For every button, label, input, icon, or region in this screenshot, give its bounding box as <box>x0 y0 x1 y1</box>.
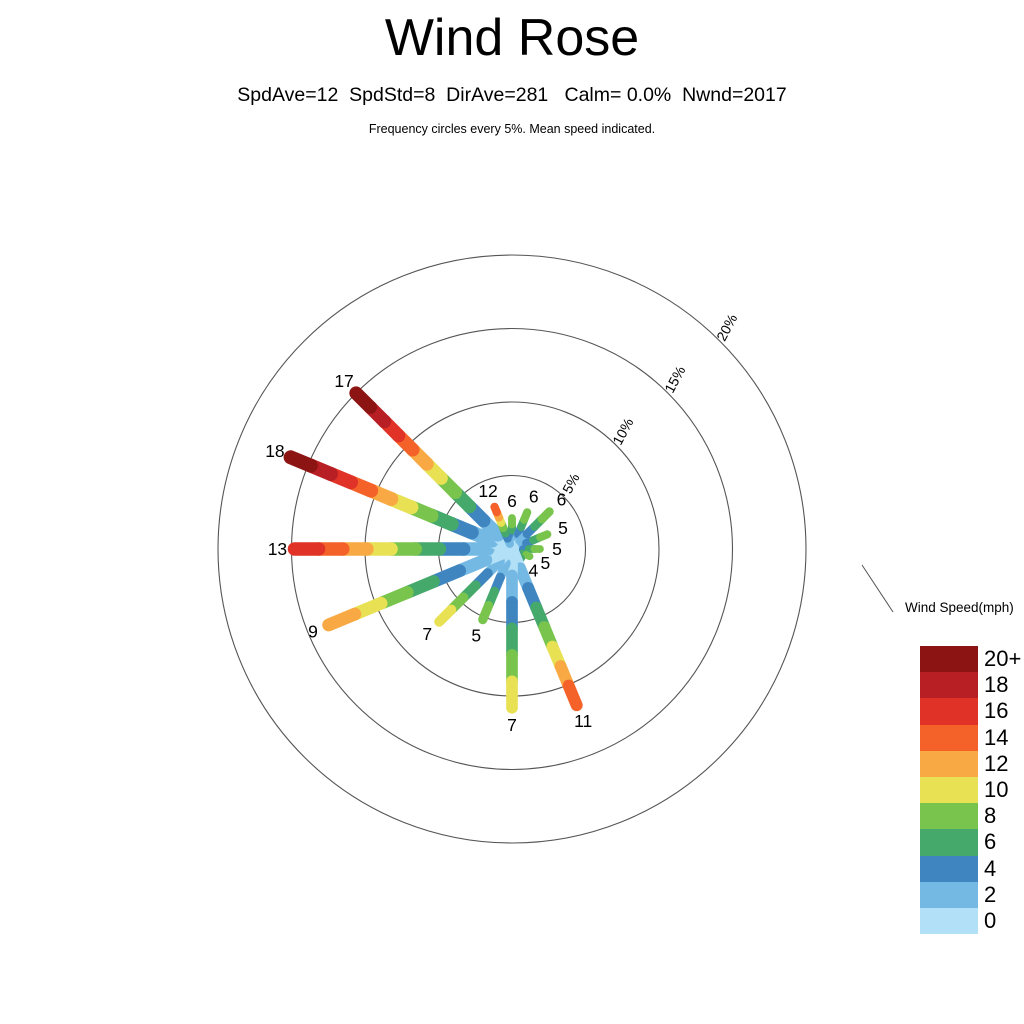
legend-entry: 16 <box>920 698 978 724</box>
ring-label: 15% <box>661 363 688 395</box>
legend-entry: 0 <box>920 908 978 934</box>
legend-swatch <box>920 908 978 934</box>
legend-label: 0 <box>984 908 996 934</box>
legend-swatch <box>920 725 978 751</box>
legend-entry: 20+ <box>920 646 978 672</box>
legend-label: 14 <box>984 725 1008 751</box>
legend-leader-line <box>862 565 893 612</box>
petal-segment <box>329 614 355 625</box>
legend-swatch <box>920 882 978 908</box>
petal-speed-label: 5 <box>558 518 568 538</box>
petal-speed-label: 6 <box>557 490 567 510</box>
ring-label: 20% <box>713 311 740 343</box>
legend-label: 16 <box>984 698 1008 724</box>
petal-speed-label: 18 <box>265 441 284 461</box>
legend-label: 6 <box>984 829 996 855</box>
legend-label: 8 <box>984 803 996 829</box>
petal-segment <box>291 457 311 465</box>
legend-label: 18 <box>984 672 1008 698</box>
legend-swatch <box>920 751 978 777</box>
petal-segment <box>526 555 530 556</box>
legend-label: 20+ <box>984 646 1021 672</box>
ring-labels: 5%10%15%20% <box>559 311 740 496</box>
petal-speed-label: 12 <box>478 481 497 501</box>
petal-speed-label: 6 <box>529 487 539 507</box>
petal-speed-label: 13 <box>268 539 287 559</box>
petal-segment <box>569 686 577 706</box>
petal-segment <box>524 512 527 519</box>
petal-speed-label: 11 <box>574 711 592 731</box>
legend-swatch <box>920 698 978 724</box>
legend-label: 12 <box>984 751 1008 777</box>
legend-entry: 12 <box>920 751 978 777</box>
wind-petal <box>291 457 512 549</box>
legend-entry: 4 <box>920 856 978 882</box>
legend-label: 10 <box>984 777 1008 803</box>
legend-swatch <box>920 829 978 855</box>
petal-speed-label: 9 <box>308 621 318 641</box>
legend-entry: 8 <box>920 803 978 829</box>
petal-speed-label: 7 <box>422 624 432 644</box>
petal-segment <box>356 393 370 407</box>
petal-segment <box>540 534 547 537</box>
legend-entry: 14 <box>920 725 978 751</box>
petal-speed-label: 6 <box>507 491 517 511</box>
petal-segment <box>542 512 549 519</box>
petal-segment <box>495 507 497 512</box>
legend-entry: 10 <box>920 777 978 803</box>
wind-petal <box>356 393 512 549</box>
petal-speed-label: 5 <box>552 539 562 559</box>
petal-speed-label: 17 <box>334 371 353 391</box>
wind-petals <box>291 393 577 708</box>
petal-speed-label: 5 <box>471 625 481 645</box>
wind-rose-plot: 5%10%15%20% 666555411757913181712 <box>0 0 1024 1024</box>
petal-speed-label: 7 <box>507 715 517 735</box>
legend-entry: 18 <box>920 672 978 698</box>
petal-speed-label: 5 <box>540 553 550 573</box>
ring-label: 10% <box>609 415 636 447</box>
legend-entry: 2 <box>920 882 978 908</box>
legend-label: 2 <box>984 882 996 908</box>
legend-entry: 6 <box>920 829 978 855</box>
legend-swatch <box>920 856 978 882</box>
petal-segment <box>483 605 489 619</box>
petal-segment <box>439 610 451 622</box>
legend-swatch <box>920 646 978 672</box>
petal-speed-label: 4 <box>529 560 539 580</box>
legend-label: 4 <box>984 856 996 882</box>
legend-title: Wind Speed(mph) <box>905 600 1014 615</box>
legend-swatch <box>920 803 978 829</box>
legend-swatch <box>920 777 978 803</box>
legend-swatch <box>920 672 978 698</box>
wind-rose-figure: Wind Rose SpdAve=12 SpdStd=8 DirAve=281 … <box>0 0 1024 1024</box>
wind-speed-legend: 20+181614121086420 <box>920 646 978 934</box>
